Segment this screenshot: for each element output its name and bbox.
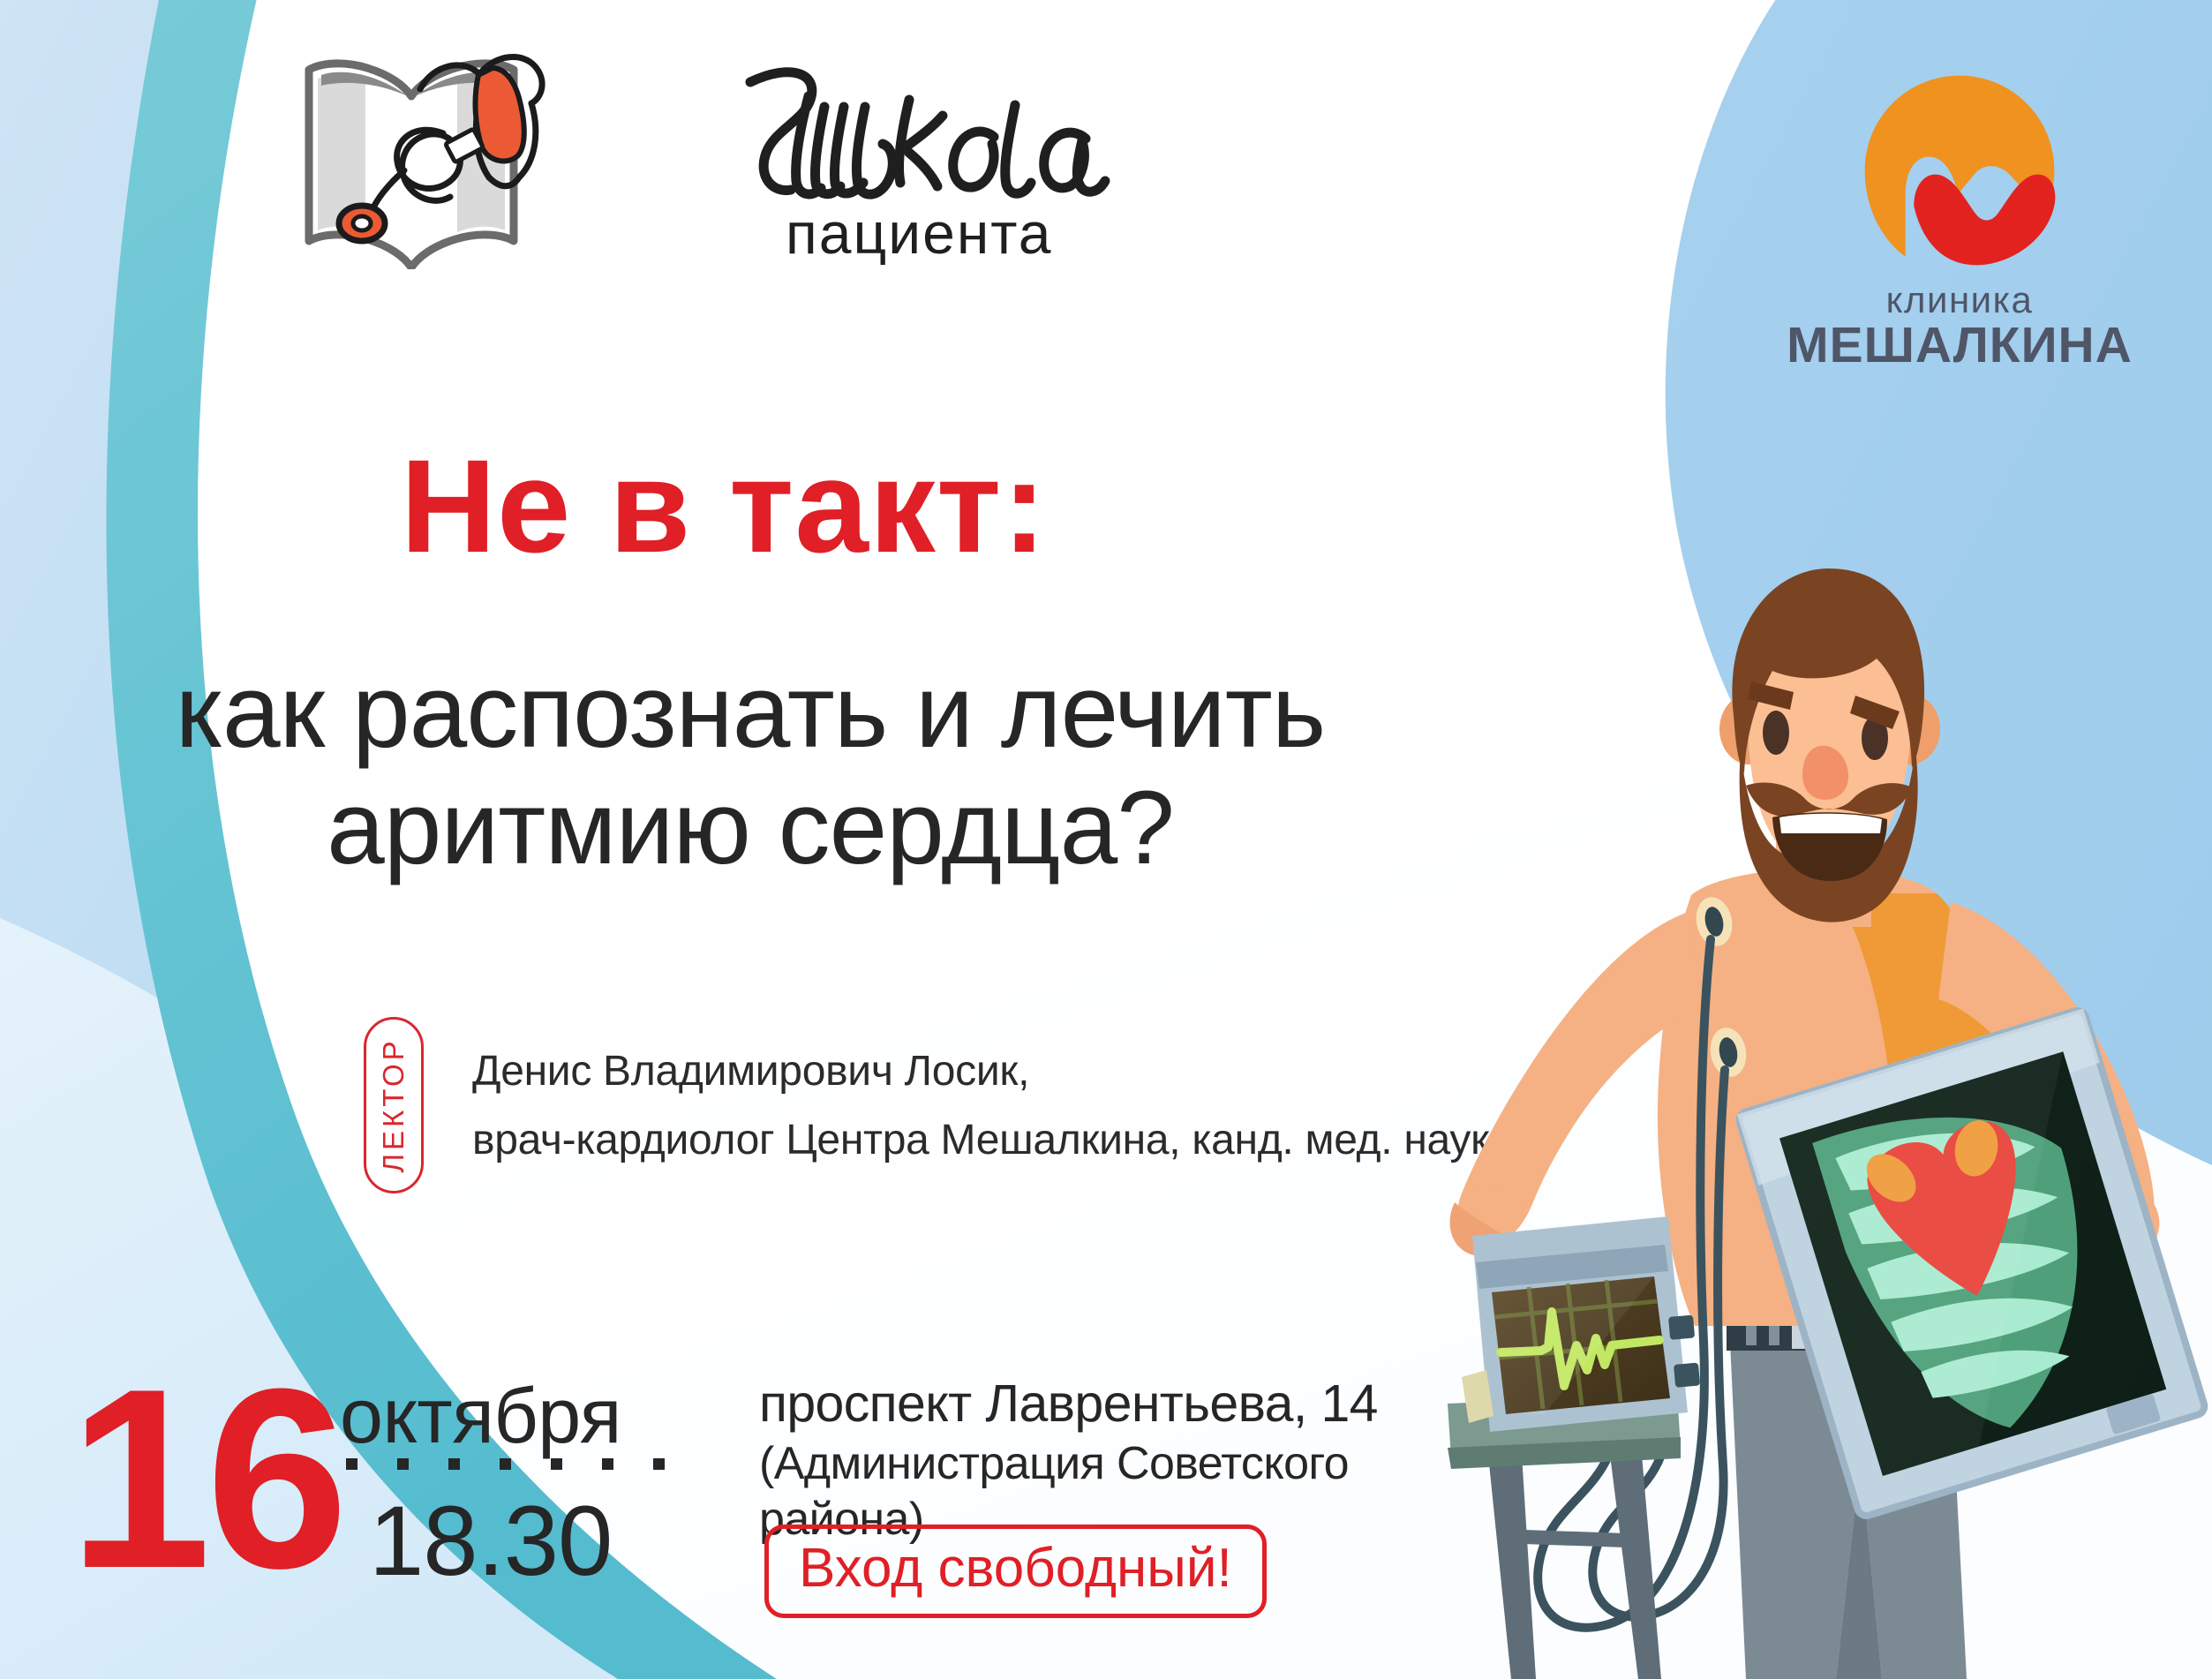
clinic-name-main: МЕШАЛКИНА [1752, 320, 2167, 373]
divider-dot [653, 1458, 665, 1470]
free-entry-badge: Вход свободный! [764, 1525, 1267, 1618]
meshalkin-mark-icon [1858, 69, 2061, 272]
divider-dot [602, 1458, 613, 1470]
divider-dot [551, 1458, 562, 1470]
event-time: 18.30 [369, 1492, 612, 1591]
clinic-logo: клиника МЕШАЛКИНА [1752, 69, 2167, 422]
school-patient-logo: пациента [291, 49, 1245, 269]
school-word-script [750, 72, 1105, 194]
school-word-subtitle: пациента [786, 200, 1052, 266]
monitor-port-lower [1674, 1363, 1700, 1388]
dotted-divider [346, 1458, 664, 1471]
teeth-icon [1779, 814, 1882, 833]
head [1719, 568, 1940, 927]
lecturer-badge: ЛЕКТОР [364, 1017, 424, 1193]
divider-dot [500, 1458, 511, 1470]
event-month: октября [340, 1377, 621, 1455]
divider-dot [448, 1458, 460, 1470]
headline-secondary-line-2: аритмию сердца? [0, 770, 1501, 886]
divider-dot [346, 1458, 357, 1470]
eye-left-icon [1763, 711, 1789, 755]
event-day: 16 [69, 1351, 343, 1607]
headline-secondary-line-1: как распознать и лечить [176, 653, 1325, 770]
venue-address: проспект Лаврентьева, 14 [759, 1374, 1378, 1433]
poster-canvas: пациента клиника МЕШАЛКИНА Не в такт: ка… [0, 0, 2212, 1679]
monitor-port-upper [1668, 1315, 1695, 1340]
headline-primary: Не в такт: [0, 440, 1448, 572]
clinic-name-prefix: клиника [1752, 281, 2167, 320]
lecturer-badge-label: ЛЕКТОР [377, 1037, 410, 1172]
character-illustration [1377, 565, 2212, 1679]
divider-dot [397, 1458, 409, 1470]
headline-secondary: как распознать и лечить аритмию сердца? [0, 653, 1501, 886]
